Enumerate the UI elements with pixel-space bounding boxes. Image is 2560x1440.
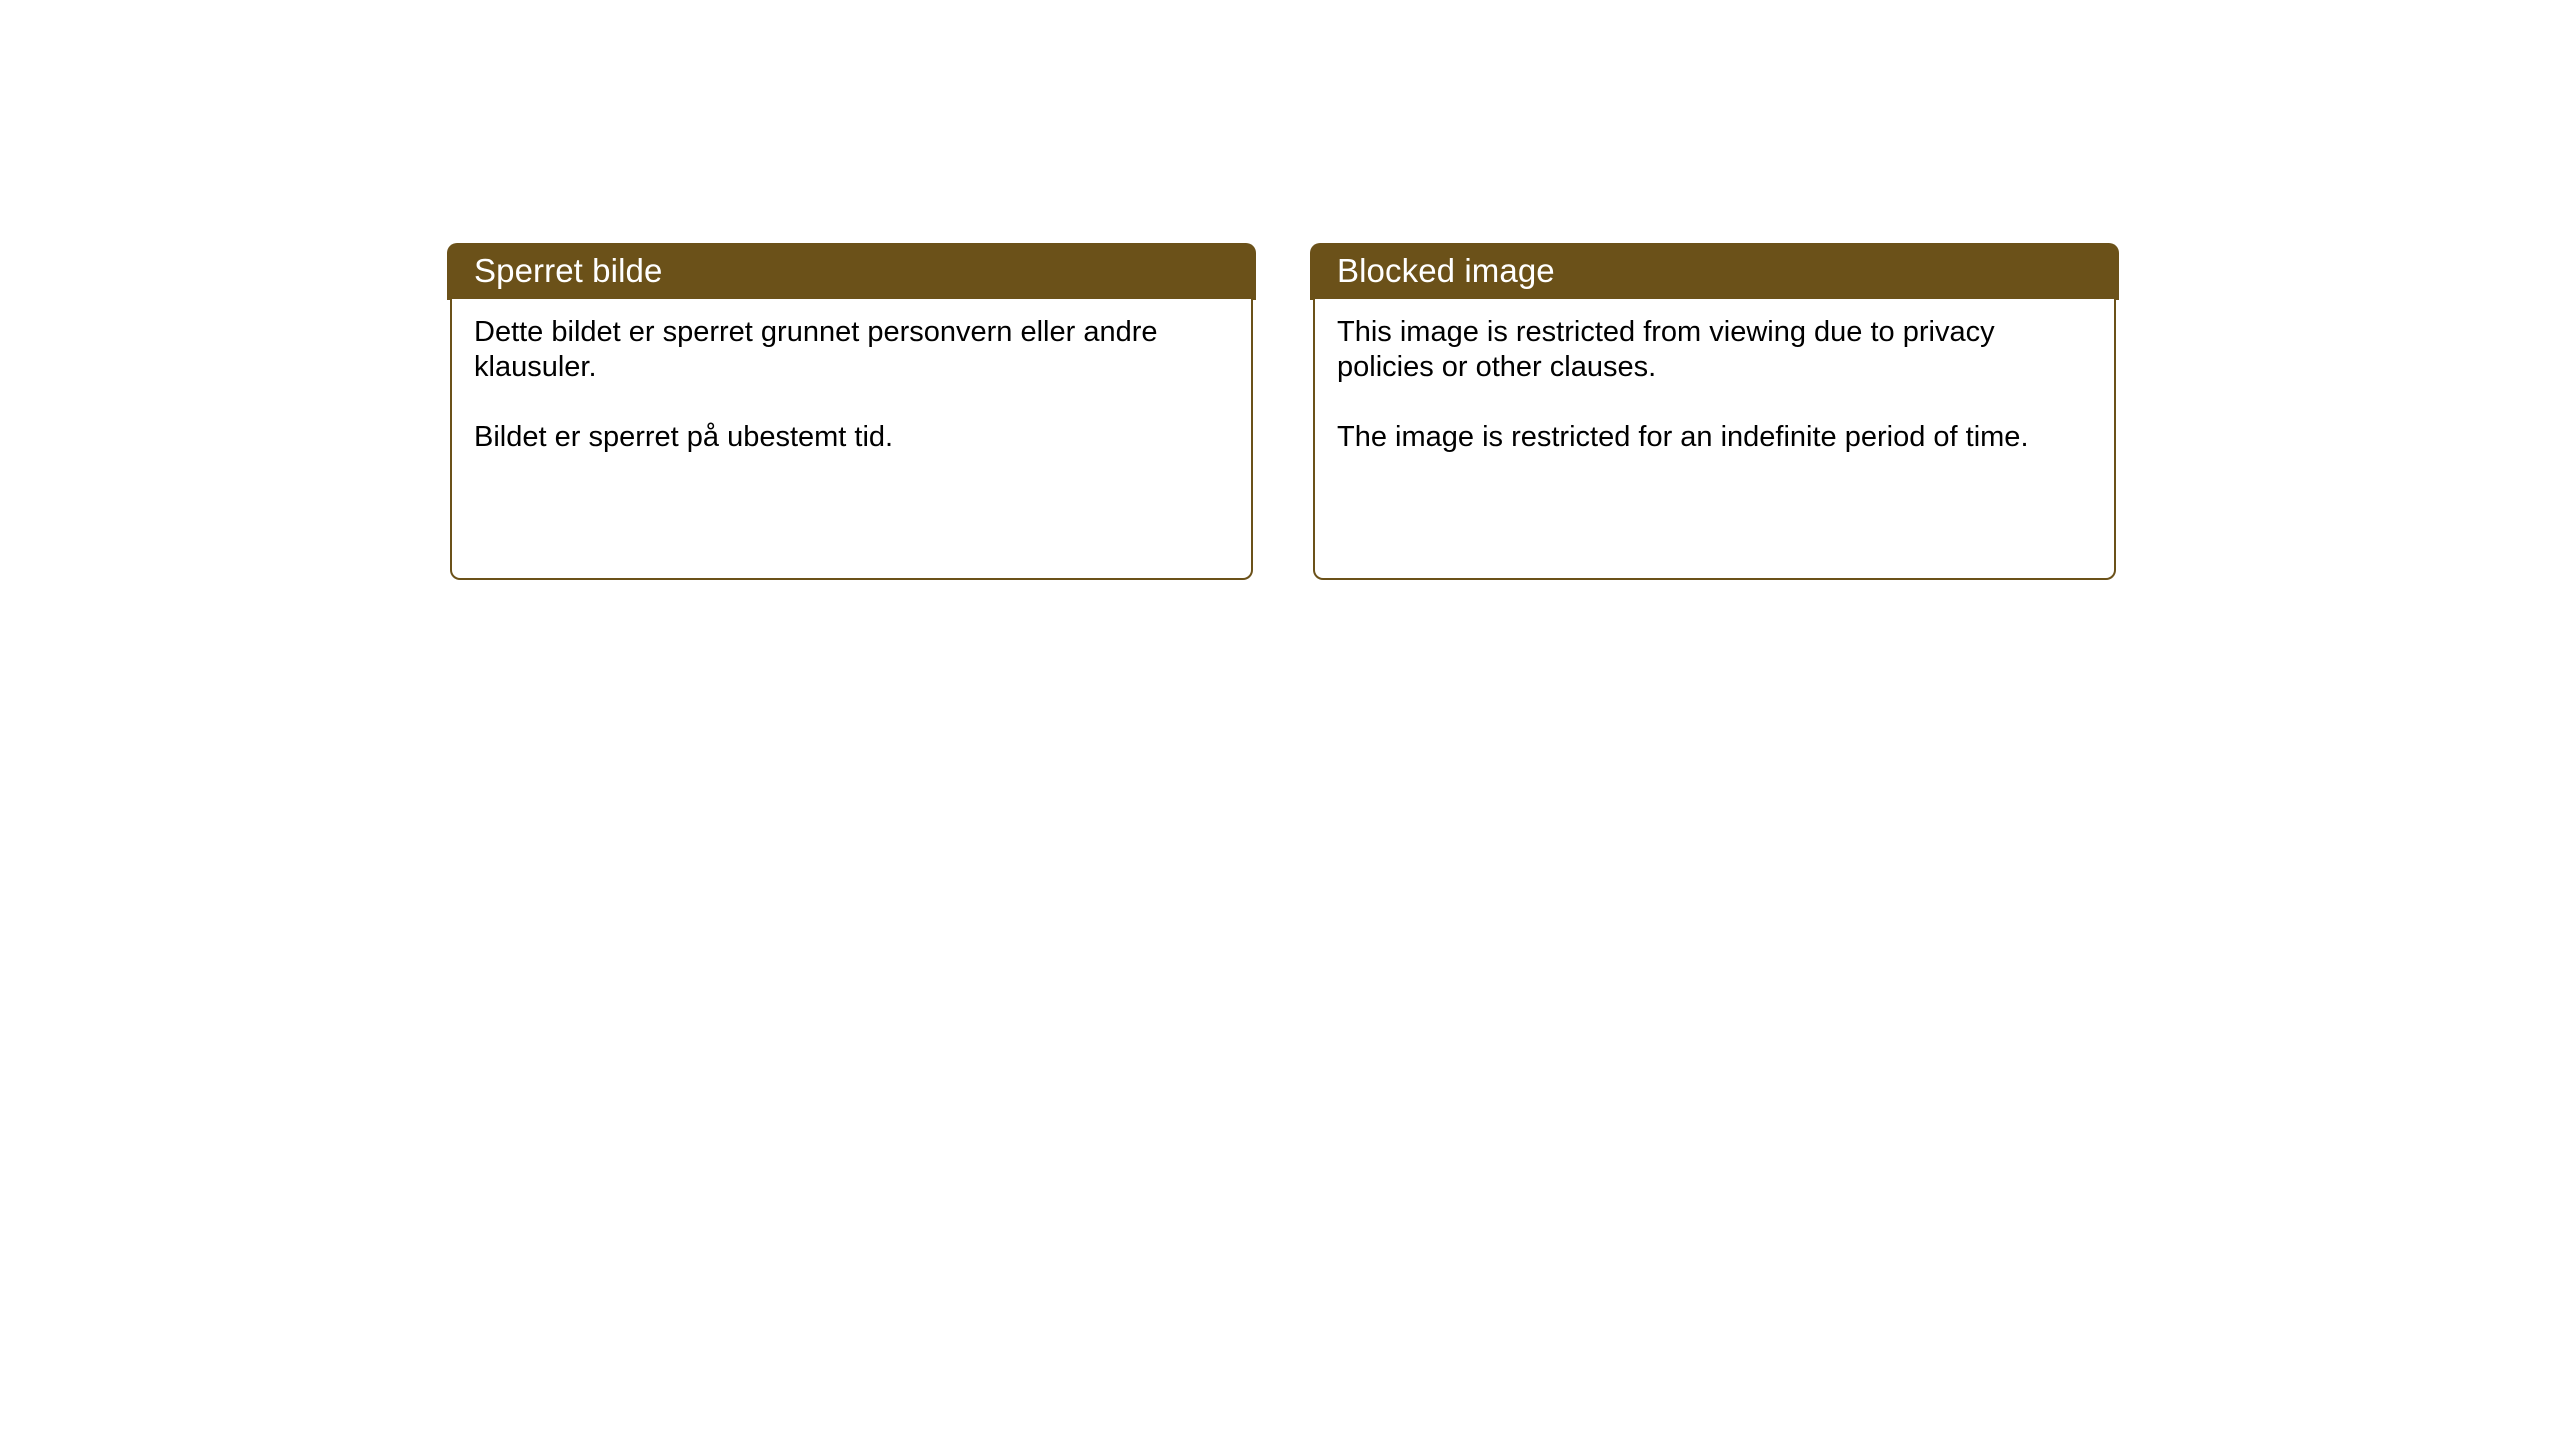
panel-header-english: Blocked image bbox=[1310, 243, 2119, 300]
page-root: Sperret bilde Dette bildet er sperret gr… bbox=[0, 0, 2560, 1440]
panel-title-norwegian: Sperret bilde bbox=[474, 249, 662, 293]
panel-paragraph-secondary-english: The image is restricted for an indefinit… bbox=[1337, 420, 2090, 455]
panel-paragraph-primary-norwegian: Dette bildet er sperret grunnet personve… bbox=[474, 315, 1227, 385]
panel-paragraph-secondary-norwegian: Bildet er sperret på ubestemt tid. bbox=[474, 420, 1227, 455]
blocked-image-notice-norwegian: Sperret bilde Dette bildet er sperret gr… bbox=[450, 243, 1253, 580]
panel-paragraph-primary-english: This image is restricted from viewing du… bbox=[1337, 315, 2090, 385]
panel-body-norwegian: Dette bildet er sperret grunnet personve… bbox=[450, 299, 1253, 580]
blocked-image-notice-english: Blocked image This image is restricted f… bbox=[1313, 243, 2116, 580]
panel-title-english: Blocked image bbox=[1337, 249, 1555, 293]
panel-body-english: This image is restricted from viewing du… bbox=[1313, 299, 2116, 580]
panel-header-norwegian: Sperret bilde bbox=[447, 243, 1256, 300]
